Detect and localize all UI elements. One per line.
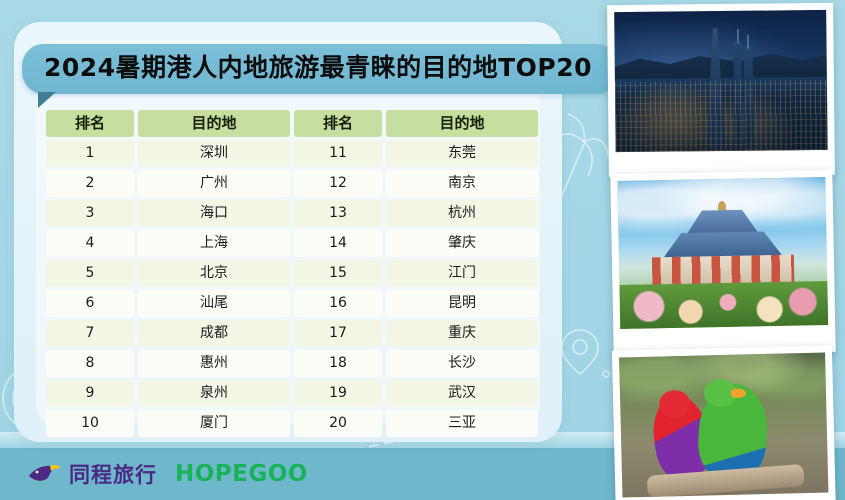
- destination-value: 泉州: [138, 380, 290, 407]
- rank-value: 10: [46, 410, 134, 437]
- rank-value: 5: [46, 260, 134, 287]
- table-row: 5北京: [46, 260, 290, 287]
- table-row: 6汕尾: [46, 290, 290, 317]
- table-row: 12南京: [294, 170, 538, 197]
- footer-logos: 同程旅行 HOPEGOO: [28, 459, 308, 489]
- destination-value: 东莞: [386, 140, 538, 167]
- rank-value: 18: [294, 350, 382, 377]
- destination-value: 武汉: [386, 380, 538, 407]
- rank-value: 3: [46, 200, 134, 227]
- photo-eclectus-parrots: [612, 345, 836, 500]
- destination-value: 长沙: [386, 350, 538, 377]
- tongcheng-logo: 同程旅行: [28, 459, 157, 489]
- table-row: 7成都: [46, 320, 290, 347]
- destination-value: 厦门: [138, 410, 290, 437]
- table-row: 13杭州: [294, 200, 538, 227]
- table-row: 8惠州: [46, 350, 290, 377]
- table-row: 10厦门: [46, 410, 290, 437]
- table-row: 18长沙: [294, 350, 538, 377]
- rank-value: 11: [294, 140, 382, 167]
- title-banner: 2024暑期港人内地旅游最青睐的目的地TOP20: [22, 44, 618, 94]
- table-row: 4上海: [46, 230, 290, 257]
- ranking-table: 排名 目的地 1深圳 2广州 3海口 4上海 5北京 6汕尾 7成都 8惠州 9…: [46, 110, 538, 437]
- destination-value: 江门: [386, 260, 538, 287]
- table-row: 2广州: [46, 170, 290, 197]
- rank-value: 14: [294, 230, 382, 257]
- column-header-destination: 目的地: [138, 110, 290, 137]
- rank-value: 8: [46, 350, 134, 377]
- destination-value: 成都: [138, 320, 290, 347]
- photo-sun-yat-sen-memorial-hall: [610, 170, 835, 356]
- table-row: 11东莞: [294, 140, 538, 167]
- destination-value: 杭州: [386, 200, 538, 227]
- tongcheng-logo-text: 同程旅行: [69, 459, 157, 489]
- photo-image: [619, 353, 828, 498]
- destination-value: 昆明: [386, 290, 538, 317]
- column-header-rank: 排名: [294, 110, 382, 137]
- bird-icon: [28, 463, 62, 485]
- table-row: 16昆明: [294, 290, 538, 317]
- rank-value: 4: [46, 230, 134, 257]
- rank-value: 16: [294, 290, 382, 317]
- rank-value: 1: [46, 140, 134, 167]
- table-row: 9泉州: [46, 380, 290, 407]
- rank-value: 7: [46, 320, 134, 347]
- table-row: 3海口: [46, 200, 290, 227]
- hopegoo-logo-text: HOPEGOO: [175, 461, 308, 487]
- map-pin-icon: [562, 330, 609, 377]
- ranking-table-right-half: 排名 目的地 11东莞 12南京 13杭州 14肇庆 15江门 16昆明 17重…: [294, 110, 538, 437]
- photo-image: [617, 177, 828, 329]
- rank-value: 20: [294, 410, 382, 437]
- infographic-canvas: 2024暑期港人内地旅游最青睐的目的地TOP20 排名 目的地 1深圳 2广州 …: [0, 0, 845, 500]
- table-header-row: 排名 目的地: [46, 110, 290, 137]
- destination-value: 三亚: [386, 410, 538, 437]
- rank-value: 2: [46, 170, 134, 197]
- rank-value: 15: [294, 260, 382, 287]
- page-title: 2024暑期港人内地旅游最青睐的目的地TOP20: [44, 53, 592, 83]
- rank-value: 19: [294, 380, 382, 407]
- destination-value: 海口: [138, 200, 290, 227]
- title-bar: 2024暑期港人内地旅游最青睐的目的地TOP20: [22, 44, 618, 94]
- destination-value: 上海: [138, 230, 290, 257]
- rank-value: 9: [46, 380, 134, 407]
- table-row: 14肇庆: [294, 230, 538, 257]
- rank-value: 6: [46, 290, 134, 317]
- rank-value: 17: [294, 320, 382, 347]
- table-header-row: 排名 目的地: [294, 110, 538, 137]
- destination-value: 北京: [138, 260, 290, 287]
- photo-shenzhen-skyline-night: [607, 3, 835, 177]
- rank-value: 13: [294, 200, 382, 227]
- photo-image: [614, 10, 827, 152]
- destination-value: 肇庆: [386, 230, 538, 257]
- destination-value: 广州: [138, 170, 290, 197]
- destination-value: 南京: [386, 170, 538, 197]
- title-bar-tail: [38, 92, 56, 108]
- destination-value: 惠州: [138, 350, 290, 377]
- column-header-rank: 排名: [46, 110, 134, 137]
- table-row: 19武汉: [294, 380, 538, 407]
- table-row: 17重庆: [294, 320, 538, 347]
- column-header-destination: 目的地: [386, 110, 538, 137]
- destination-value: 汕尾: [138, 290, 290, 317]
- table-row: 20三亚: [294, 410, 538, 437]
- destination-value: 深圳: [138, 140, 290, 167]
- rank-value: 12: [294, 170, 382, 197]
- ranking-table-left-half: 排名 目的地 1深圳 2广州 3海口 4上海 5北京 6汕尾 7成都 8惠州 9…: [46, 110, 290, 437]
- table-row: 15江门: [294, 260, 538, 287]
- table-row: 1深圳: [46, 140, 290, 167]
- destination-value: 重庆: [386, 320, 538, 347]
